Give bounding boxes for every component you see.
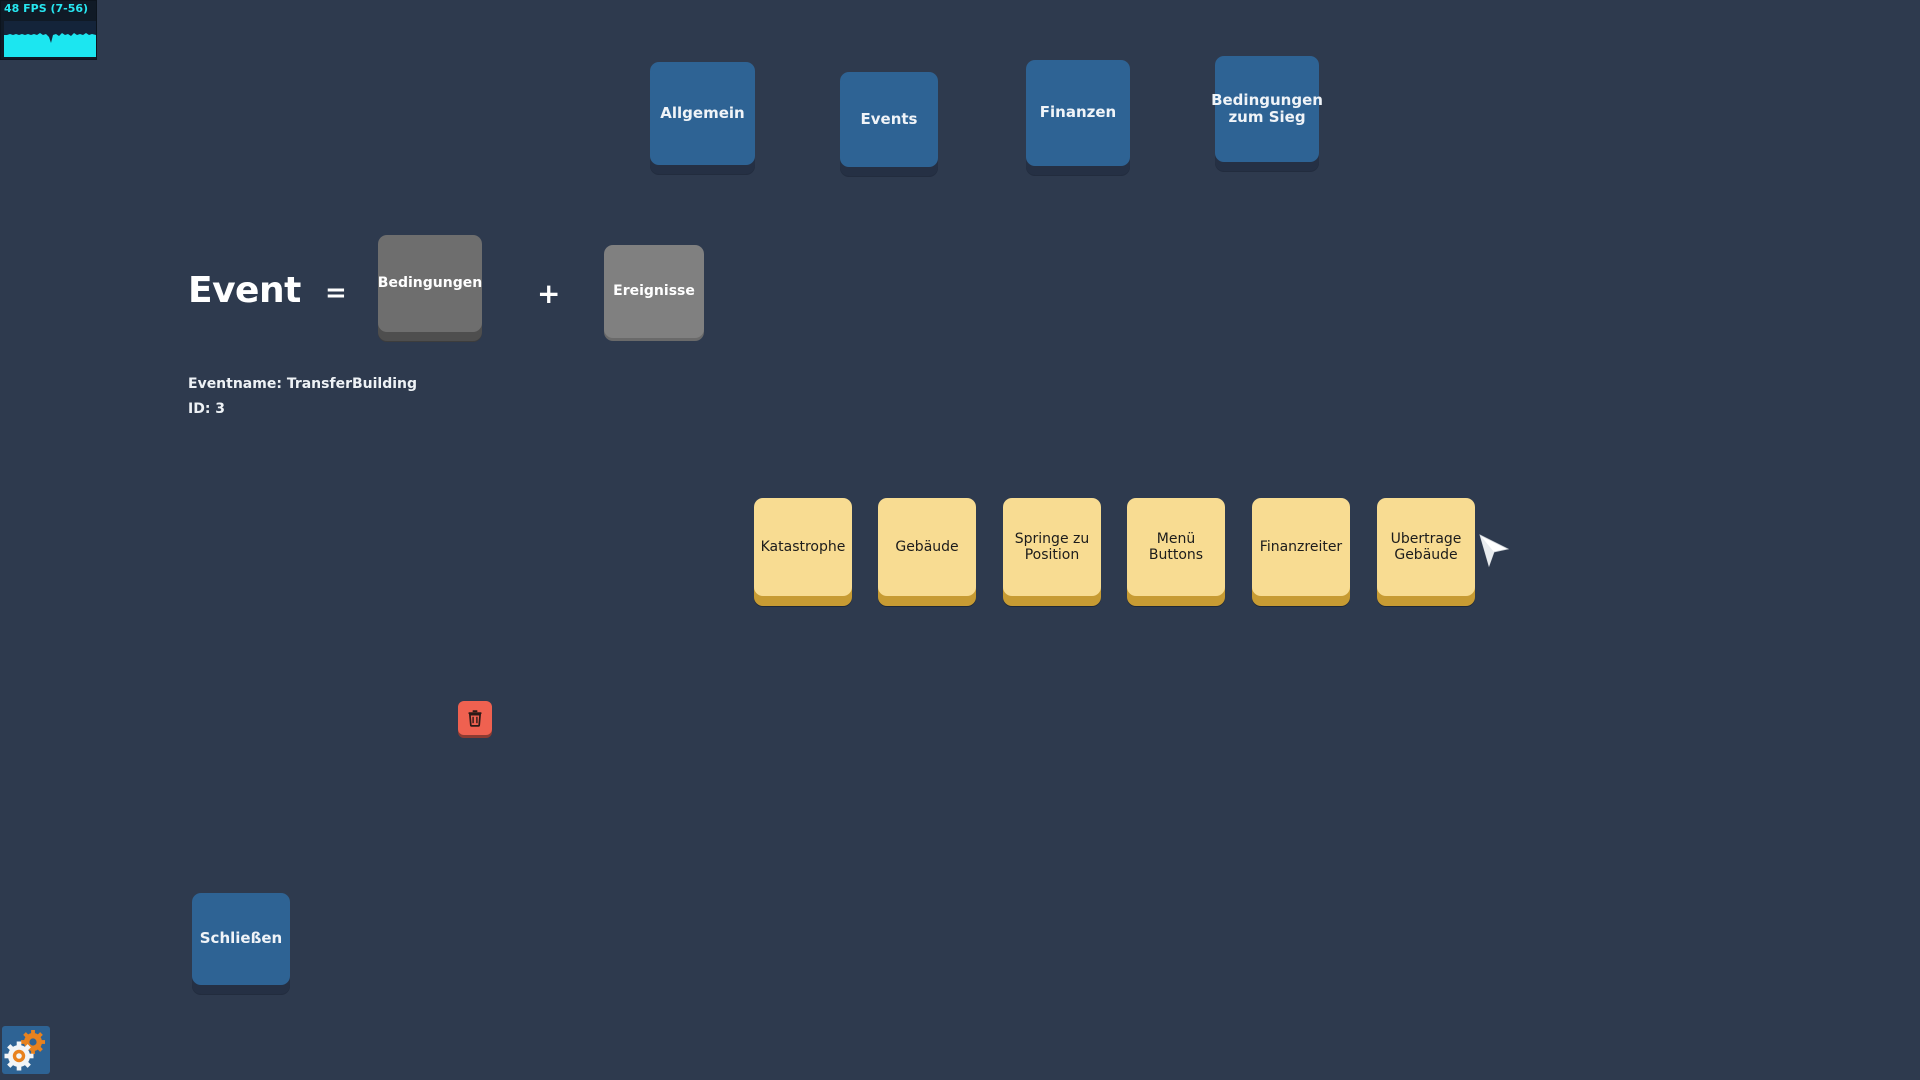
tab-finanzen[interactable]: Finanzen: [1026, 60, 1130, 166]
fps-waveform-graph: [4, 21, 96, 57]
action-katastrophe[interactable]: Katastrophe: [754, 498, 852, 596]
tab-events[interactable]: Events: [840, 72, 938, 167]
settings-button[interactable]: [2, 1026, 50, 1074]
action-menue-buttons[interactable]: Menü Buttons: [1127, 498, 1225, 596]
formula-plus-symbol: +: [537, 277, 560, 310]
action-katastrophe-label: Katastrophe: [761, 539, 846, 555]
operand-ereignisse-button[interactable]: Ereignisse: [604, 245, 704, 338]
close-button[interactable]: Schließen: [192, 893, 290, 985]
gears-icon: [3, 1027, 49, 1073]
action-ubertrage-gebaeude-label-line2: Gebäude: [1394, 547, 1457, 563]
formula-event-term: Event: [188, 270, 301, 311]
action-ubertrage-gebaeude[interactable]: Ubertrage Gebäude: [1377, 498, 1475, 596]
action-gebaeude[interactable]: Gebäude: [878, 498, 976, 596]
performance-overlay: 48 FPS (7-56): [0, 0, 97, 60]
action-springe-zu-position-label-line2: Position: [1025, 547, 1080, 563]
trash-icon: [465, 708, 485, 728]
event-id-line: ID: 3: [188, 397, 417, 422]
action-finanzreiter[interactable]: Finanzreiter: [1252, 498, 1350, 596]
close-button-label: Schließen: [200, 930, 282, 947]
action-menue-buttons-label-line2: Buttons: [1149, 547, 1203, 563]
action-gebaeude-label: Gebäude: [895, 539, 958, 555]
tab-bedingungen-zum-sieg[interactable]: Bedingungen zum Sieg: [1215, 56, 1319, 162]
action-springe-zu-position-label-line1: Springe zu: [1015, 531, 1089, 547]
mouse-pointer-icon: [1478, 533, 1512, 573]
game-editor-screen: 48 FPS (7-56) Allgemein Events Finanzen …: [0, 0, 1920, 1080]
formula-equals-symbol: =: [325, 278, 347, 308]
event-info-block: Eventname: TransferBuilding ID: 3: [188, 372, 417, 422]
tab-finanzen-label: Finanzen: [1040, 104, 1116, 121]
action-menue-buttons-label-line1: Menü: [1157, 531, 1195, 547]
tab-events-label: Events: [861, 111, 918, 128]
action-springe-zu-position[interactable]: Springe zu Position: [1003, 498, 1101, 596]
action-ubertrage-gebaeude-label-line1: Ubertrage: [1391, 531, 1462, 547]
operand-ereignisse-label: Ereignisse: [613, 283, 695, 299]
operand-bedingungen-button[interactable]: Bedingungen: [378, 235, 482, 332]
fps-label: 48 FPS (7-56): [4, 2, 88, 15]
tab-allgemein[interactable]: Allgemein: [650, 62, 755, 165]
tab-bedingungen-zum-sieg-label-line2: zum Sieg: [1228, 109, 1305, 126]
tab-allgemein-label: Allgemein: [660, 105, 744, 122]
event-name-line: Eventname: TransferBuilding: [188, 372, 417, 397]
action-finanzreiter-label: Finanzreiter: [1260, 539, 1342, 555]
operand-bedingungen-label: Bedingungen: [378, 275, 482, 291]
delete-button[interactable]: [458, 701, 492, 735]
tab-bedingungen-zum-sieg-label-line1: Bedingungen: [1211, 92, 1323, 109]
